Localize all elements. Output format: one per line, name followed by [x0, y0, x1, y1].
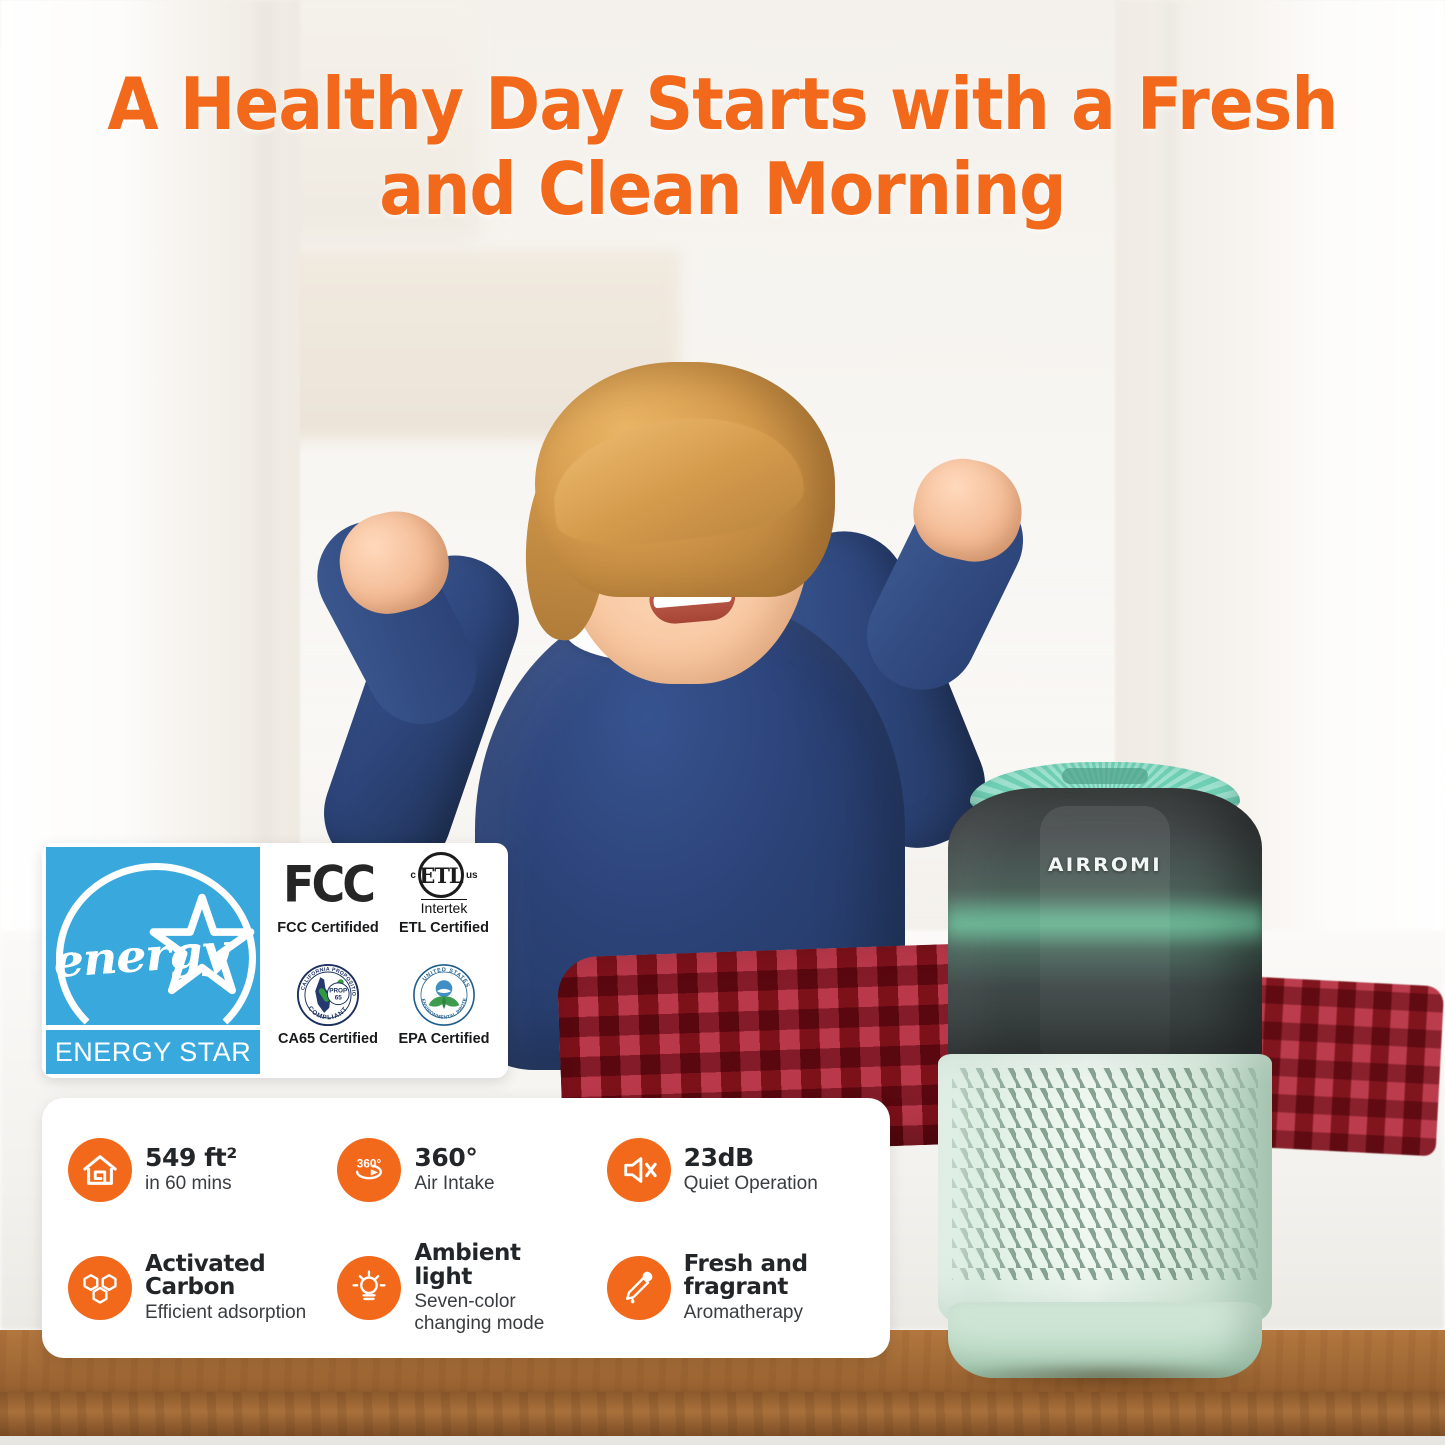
air-purifier-product: AIRROMI [920, 762, 1290, 1392]
etl-us-letter: us [466, 870, 478, 881]
aroma-dropper-icon [607, 1256, 671, 1320]
feature-activated-carbon: Activated Carbon Efficient adsorption [68, 1232, 337, 1344]
intertek-text: Intertek [421, 899, 468, 916]
purifier-body [938, 1054, 1272, 1324]
svg-text:65: 65 [335, 994, 343, 1001]
house-coverage-icon [68, 1138, 132, 1202]
feature-subtitle: Quiet Operation [684, 1173, 818, 1194]
feature-subtitle: Air Intake [414, 1173, 494, 1194]
feature-subtitle: Efficient adsorption [145, 1302, 306, 1323]
feature-subtitle: in 60 mins [145, 1173, 237, 1194]
feature-title: 360° [414, 1145, 494, 1171]
fan-hub [1062, 768, 1148, 784]
energy-star-mark: energy [46, 847, 260, 1025]
360-rotation-icon: 360° [337, 1138, 401, 1202]
feature-title: Fresh and fragrant [684, 1253, 808, 1300]
page-title: A Healthy Day Starts with a Fresh and Cl… [58, 62, 1387, 232]
carbon-hexagon-icon [68, 1256, 132, 1320]
air-intake-vents [952, 1068, 1258, 1280]
svg-text:PROP: PROP [329, 987, 348, 994]
cert-item-etl: c ETL us Intertek ETL Certified [386, 851, 502, 962]
cert-item-fcc: FCC FCC Certifided [270, 851, 386, 962]
mute-speaker-icon [607, 1138, 671, 1202]
cert-caption: CA65 Certified [278, 1031, 378, 1047]
epa-seal-svg: UNITED STATES ENVIRONMENTAL PROTECTION A… [412, 963, 476, 1027]
energy-star-icon [148, 891, 256, 999]
cert-item-ca65: PROP 65 CALIFORNIA PROPOSITION 65 COMPLI… [270, 962, 386, 1073]
fcc-wordmark: FCC [283, 859, 373, 909]
feature-title: Activated Carbon [145, 1253, 306, 1300]
etl-mark-text: ETL [418, 852, 464, 898]
energy-star-logo: energy ENERGY STAR [42, 843, 264, 1078]
feature-title: 23dB [684, 1145, 818, 1171]
feature-title: 549 ft² [145, 1145, 237, 1171]
floor-strip [0, 1436, 1445, 1445]
product-shadow [942, 1360, 1268, 1394]
cert-caption: ETL Certified [399, 920, 489, 936]
etl-c-letter: c [410, 870, 416, 881]
prop65-seal-svg: PROP 65 CALIFORNIA PROPOSITION 65 COMPLI… [296, 963, 360, 1027]
headline-line-1: A Healthy Day Starts with a Fresh [58, 62, 1387, 147]
cert-item-epa: UNITED STATES ENVIRONMENTAL PROTECTION A… [386, 962, 502, 1073]
feature-subtitle: Aromatherapy [684, 1302, 808, 1323]
ca65-prop65-compliant-icon: PROP 65 CALIFORNIA PROPOSITION 65 COMPLI… [296, 962, 360, 1028]
front-panel-facet [1040, 806, 1170, 1056]
cert-caption: FCC Certifided [277, 920, 379, 936]
light-bulb-icon [337, 1256, 401, 1320]
etl-intertek-icon: c ETL us Intertek [410, 851, 477, 917]
energy-star-label-text: ENERGY STAR [55, 1037, 252, 1068]
feature-aromatherapy: Fresh and fragrant Aromatherapy [607, 1232, 876, 1344]
feature-ambient-light: Ambient light Seven-color changing mode [337, 1232, 606, 1344]
feature-air-intake: 360° 360° Air Intake [337, 1114, 606, 1226]
wooden-table-edge [0, 1392, 1445, 1436]
purifier-top-housing: AIRROMI [948, 788, 1262, 1064]
feature-title: Ambient light [414, 1242, 544, 1289]
feature-subtitle: Seven-color changing mode [414, 1291, 544, 1334]
energy-star-wordmark: ENERGY STAR [46, 1030, 260, 1074]
epa-seal-icon: UNITED STATES ENVIRONMENTAL PROTECTION A… [412, 962, 476, 1028]
headline-line-2: and Clean Morning [58, 147, 1387, 232]
certification-grid: FCC FCC Certifided c ETL us Intertek ETL… [264, 843, 508, 1078]
cert-caption: EPA Certified [398, 1031, 489, 1047]
certification-panel: energy ENERGY STAR FCC FCC Certifided c … [42, 843, 508, 1078]
brand-logo: AIRROMI [948, 854, 1262, 876]
feature-noise-level: 23dB Quiet Operation [607, 1114, 876, 1226]
feature-coverage-area: 549 ft² in 60 mins [68, 1114, 337, 1226]
feature-highlights-panel: 549 ft² in 60 mins 360° 360° Air Intake … [42, 1098, 890, 1358]
fcc-logo-icon: FCC [283, 851, 373, 917]
